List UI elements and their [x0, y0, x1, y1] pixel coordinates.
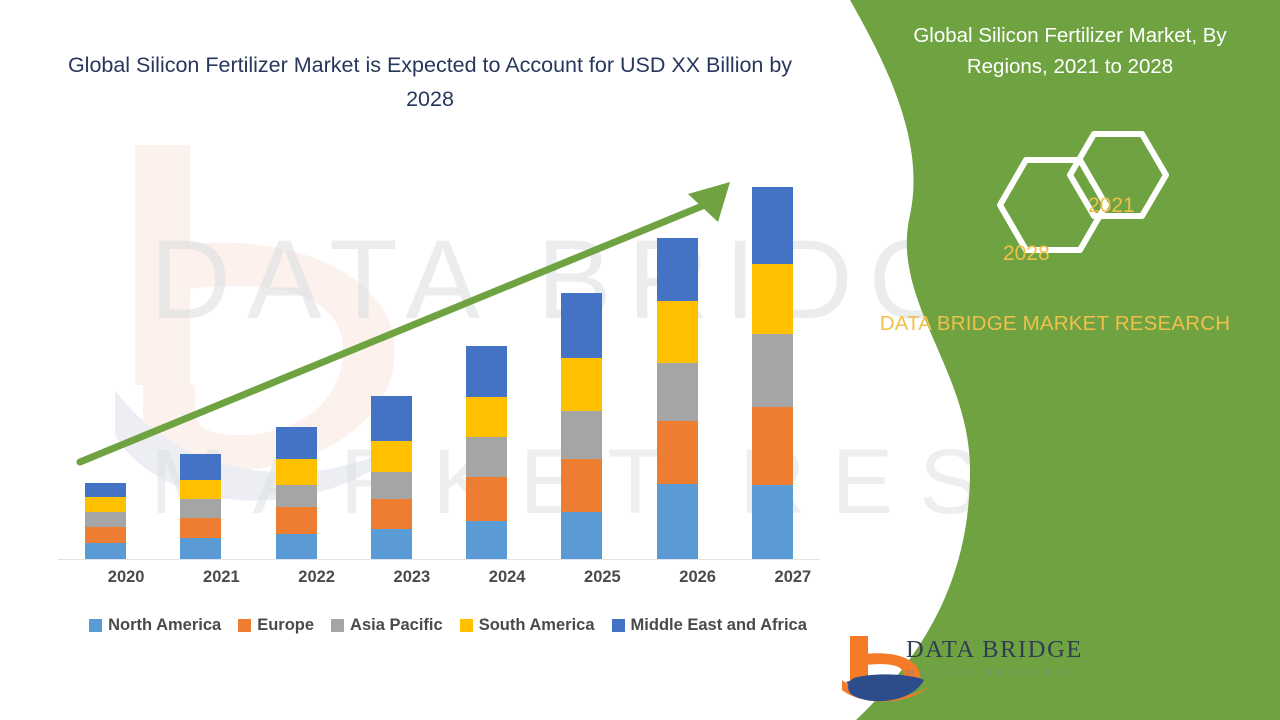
bar-2027[interactable]: [752, 187, 793, 559]
bar-segment-south-america[interactable]: [752, 264, 793, 334]
bar-segment-asia-pacific[interactable]: [752, 334, 793, 407]
bar-segment-north-america[interactable]: [466, 521, 507, 559]
bar-2024[interactable]: [466, 346, 507, 559]
x-tick-2023: 2023: [377, 568, 447, 587]
x-tick-2020: 2020: [91, 568, 161, 587]
bar-segment-south-america[interactable]: [180, 480, 221, 499]
bar-segment-north-america[interactable]: [276, 534, 317, 559]
bar-segment-south-america[interactable]: [85, 497, 126, 512]
slide-canvas: DATA BRIDGE MARKET RESEARCH Global Silic…: [0, 0, 1280, 720]
bar-segment-middle-east-and-africa[interactable]: [752, 187, 793, 264]
bar-segment-europe[interactable]: [752, 407, 793, 485]
bar-segment-north-america[interactable]: [561, 512, 602, 559]
legend-item-middle-east-and-africa[interactable]: Middle East and Africa: [612, 616, 807, 635]
bar-segment-south-america[interactable]: [466, 397, 507, 437]
bar-segment-south-america[interactable]: [276, 459, 317, 485]
x-tick-2021: 2021: [186, 568, 256, 587]
bar-segment-south-america[interactable]: [371, 441, 412, 472]
chart-title: Global Silicon Fertilizer Market is Expe…: [60, 48, 800, 116]
bar-segment-north-america[interactable]: [752, 485, 793, 559]
bar-segment-europe[interactable]: [561, 459, 602, 512]
x-tick-2022: 2022: [282, 568, 352, 587]
bar-segment-asia-pacific[interactable]: [466, 437, 507, 477]
logo-subtitle: MARKET RESEARCH: [906, 667, 1083, 677]
legend-swatch-icon: [612, 619, 625, 632]
bar-segment-north-america[interactable]: [85, 543, 126, 559]
legend-label: Asia Pacific: [350, 616, 443, 635]
legend-label: Middle East and Africa: [631, 616, 807, 635]
logo-name: DATA BRIDGE: [906, 636, 1083, 664]
legend-swatch-icon: [238, 619, 251, 632]
bar-2025[interactable]: [561, 293, 602, 559]
brand-name-text: DATA BRIDGE MARKET RESEARCH: [855, 308, 1255, 339]
x-tick-2025: 2025: [567, 568, 637, 587]
bar-segment-europe[interactable]: [371, 499, 412, 529]
bar-segment-asia-pacific[interactable]: [561, 411, 602, 459]
bar-segment-asia-pacific[interactable]: [276, 485, 317, 507]
bar-segment-north-america[interactable]: [657, 484, 698, 559]
hexagon-2028-label: 2028: [1003, 242, 1050, 266]
bar-segment-north-america[interactable]: [371, 529, 412, 559]
bar-segment-asia-pacific[interactable]: [180, 499, 221, 518]
bar-segment-europe[interactable]: [657, 421, 698, 484]
bar-2020[interactable]: [85, 483, 126, 559]
bar-segment-middle-east-and-africa[interactable]: [85, 483, 126, 497]
panel-title: Global Silicon Fertilizer Market, By Reg…: [880, 20, 1260, 82]
legend-item-south-america[interactable]: South America: [460, 616, 595, 635]
bar-segment-middle-east-and-africa[interactable]: [657, 238, 698, 301]
bar-segment-middle-east-and-africa[interactable]: [561, 293, 602, 358]
bar-segment-asia-pacific[interactable]: [85, 512, 126, 527]
bar-segment-europe[interactable]: [466, 477, 507, 521]
legend-swatch-icon: [331, 619, 344, 632]
bar-segment-europe[interactable]: [180, 518, 221, 538]
legend-swatch-icon: [460, 619, 473, 632]
legend-swatch-icon: [89, 619, 102, 632]
hexagon-badges: 2021 2028: [970, 130, 1200, 280]
bar-2021[interactable]: [180, 454, 221, 559]
bar-segment-europe[interactable]: [276, 507, 317, 534]
chart-legend: North AmericaEuropeAsia PacificSouth Ame…: [58, 616, 838, 635]
hexagon-2021-label: 2021: [1088, 194, 1135, 218]
bar-2026[interactable]: [657, 238, 698, 559]
bar-segment-middle-east-and-africa[interactable]: [276, 427, 317, 459]
logo-wordmark: DATA BRIDGE MARKET RESEARCH: [906, 636, 1083, 677]
legend-item-europe[interactable]: Europe: [238, 616, 314, 635]
legend-label: Europe: [257, 616, 314, 635]
bar-2022[interactable]: [276, 427, 317, 559]
bar-segment-north-america[interactable]: [180, 538, 221, 559]
bar-segment-asia-pacific[interactable]: [657, 363, 698, 421]
legend-label: North America: [108, 616, 221, 635]
bar-2023[interactable]: [371, 396, 412, 559]
bar-segment-asia-pacific[interactable]: [371, 472, 412, 499]
bar-segment-middle-east-and-africa[interactable]: [466, 346, 507, 397]
x-axis-line: [58, 559, 820, 560]
legend-item-north-america[interactable]: North America: [89, 616, 221, 635]
green-side-panel: Global Silicon Fertilizer Market, By Reg…: [820, 0, 1280, 720]
bar-segment-middle-east-and-africa[interactable]: [371, 396, 412, 441]
x-axis-tick-labels: 20202021202220232024202520262027: [58, 568, 820, 592]
x-tick-2024: 2024: [472, 568, 542, 587]
x-tick-2027: 2027: [758, 568, 828, 587]
bar-segment-europe[interactable]: [85, 527, 126, 543]
chart-panel: Global Silicon Fertilizer Market is Expe…: [0, 0, 860, 720]
bar-segment-south-america[interactable]: [657, 301, 698, 363]
bar-segment-south-america[interactable]: [561, 358, 602, 411]
stacked-bar-plot: [58, 160, 820, 560]
x-tick-2026: 2026: [663, 568, 733, 587]
bar-segment-middle-east-and-africa[interactable]: [180, 454, 221, 480]
legend-label: South America: [479, 616, 595, 635]
legend-item-asia-pacific[interactable]: Asia Pacific: [331, 616, 443, 635]
